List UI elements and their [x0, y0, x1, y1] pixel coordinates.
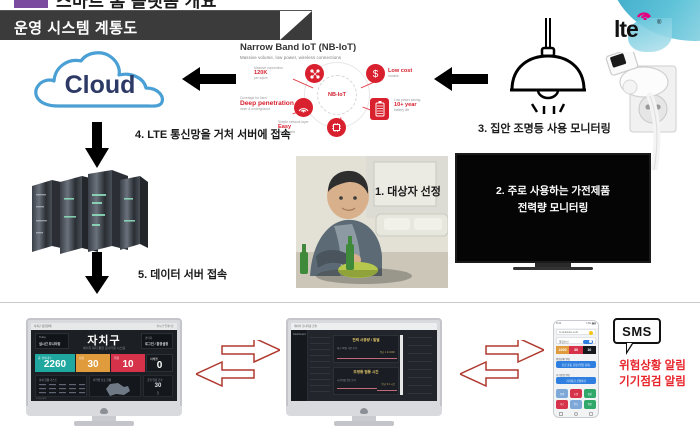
- browser-tab-label: 자치구 통합관제: [34, 324, 51, 328]
- lte-logo: lte ®: [614, 4, 668, 46]
- nbiot-caption-battery: Low power saving 10+ year battery life: [394, 98, 420, 112]
- nbiot-caption-connections: Massive connection 120K per sqkm: [254, 66, 283, 80]
- kpi-card-inspection[interactable]: 점검 30: [76, 354, 110, 372]
- chart-2-title: 조명등 점등 시간: [334, 370, 398, 375]
- phone-kpi-row: 2260 30 10: [556, 346, 596, 354]
- kpi-card-total[interactable]: 총 설치대수 2260: [35, 354, 75, 372]
- region-map-icon: [102, 381, 132, 397]
- lte-wordmark: lte: [614, 18, 638, 41]
- phone-kpi-total[interactable]: 2260: [556, 346, 569, 354]
- section-divider: [0, 302, 700, 303]
- dashboard-1-footer: Copyright: [36, 397, 46, 400]
- nbiot-caption-tiny2: per sqkm: [254, 76, 283, 80]
- nbiot-caption-tiny2: module: [388, 74, 412, 78]
- phone-url-text: m.smartcare.co.kr: [559, 331, 578, 334]
- alert-line-1: 위험상황 알림: [605, 358, 700, 374]
- toggle-switch[interactable]: [583, 340, 593, 345]
- dashboard-1-subtitle: 에너지 복지 통합 모니터링 시스템: [31, 346, 177, 350]
- chart-1-subtitle: 최근 30일 사용 추이: [337, 346, 357, 350]
- arrow-left-to-cloud: [182, 66, 236, 92]
- phone-kpi-pending[interactable]: 10: [583, 346, 596, 354]
- nbiot-caption-tiny2: inner & underground: [240, 107, 294, 111]
- phone-status-bar: 9:41 LTE ▮▮▮: [554, 321, 598, 328]
- step-label-1: 1. 대상자 선정: [375, 183, 441, 199]
- nav-recents-icon[interactable]: [589, 412, 593, 416]
- cloud-label: Cloud: [24, 50, 176, 112]
- phone-url-badge-icon: [589, 331, 593, 335]
- dashboard-2-sidebar[interactable]: Dashboard: [291, 330, 308, 401]
- apple-logo-icon: [357, 407, 371, 415]
- phone-status-grid: 전력 조명 확인 가스 온도 확인: [556, 389, 596, 409]
- monitor-1-foot: [74, 421, 134, 426]
- monitor-2-screen[interactable]: 데이터 모니터링 콘솔 Dashboard: [291, 323, 437, 401]
- nbiot-node-lowcost: $: [366, 64, 385, 83]
- chart-power-usage[interactable]: 전력 사용량 / 일별 최근 30일 사용 추이 평균 1.24 kWh: [333, 335, 399, 363]
- alert-text-block: 위험상황 알림 기기점검 알림: [605, 358, 700, 390]
- tv-graphic: 2. 주로 사용하는 가전제품 전력량 모니터링: [455, 153, 651, 270]
- panel-alert-unit: 건: [144, 391, 172, 395]
- panel-alert-count[interactable]: 금일 알림 건수 30 건: [143, 375, 173, 397]
- panel-title: 설치 현황 리스트: [39, 378, 57, 382]
- smartphone-app[interactable]: 9:41 LTE ▮▮▮ m.smartcare.co.kr 알림수신 2260…: [553, 320, 599, 418]
- nav-home-icon[interactable]: [574, 412, 578, 416]
- alert-line-2: 기기점검 알림: [605, 374, 700, 390]
- elderly-man-illustration: [296, 156, 448, 288]
- nbiot-node-penetration: [294, 98, 313, 117]
- chart-lighting-time[interactable]: 조명등 점등 시간 시간대별 점등 분석 평균 5.2 시간: [333, 367, 399, 395]
- browser-tab-label-2: 데이터 모니터링 콘솔: [294, 324, 317, 328]
- dollar-icon: $: [370, 68, 381, 79]
- nbiot-node-easy: [327, 118, 346, 137]
- page-title: 운영 시스템 계통도: [14, 17, 138, 38]
- phone-alert-card-inspection[interactable]: 기기점검 알림 기기점검 신청하기: [556, 373, 596, 386]
- apple-logo-icon: [97, 407, 111, 415]
- ceiling-lamp-graphic: [492, 18, 602, 116]
- kpi-value: 30: [76, 359, 110, 370]
- grid-cell[interactable]: 전력: [556, 389, 568, 398]
- phone-nav-bar: [554, 412, 598, 416]
- chart-1-right-label: 평균 1.24 kWh: [380, 350, 395, 354]
- arrow-down-cloud-to-server: [84, 122, 110, 168]
- lte-trademark: ®: [657, 20, 661, 26]
- grid-cell[interactable]: 가스: [556, 400, 568, 409]
- panel-title: 금일 알림 건수: [147, 378, 163, 382]
- server-rack-graphic: [30, 168, 148, 256]
- slide-root: 스마트 홈 플랫폼 개요 운영 시스템 계통도 lte ® Cloud Narr…: [0, 0, 700, 440]
- panel-install-list[interactable]: 설치 현황 리스트: [35, 375, 87, 397]
- chart-2-right-label: 평균 5.2 시간: [382, 382, 395, 386]
- tv-text-block: 2. 주로 사용하는 가전제품 전력량 모니터링: [455, 183, 651, 217]
- kpi-card-danger[interactable]: 위험 10: [111, 354, 145, 372]
- purple-accent-block: [14, 0, 48, 8]
- grid-cell[interactable]: 확인: [584, 389, 596, 398]
- kpi-value: 2260: [35, 359, 75, 370]
- monitor-dashboard-1: 자치구 통합관제 실시간 업데이트 Today 실시간 모니터링 관리자 로그인…: [26, 318, 182, 426]
- nbiot-caption-penetration: Coverage for hard Deep penetration inner…: [240, 96, 294, 111]
- panel-region-map[interactable]: 지역별 분포 현황: [89, 375, 141, 397]
- nbiot-title: Narrow Band IoT (NB-IoT): [240, 42, 356, 53]
- nav-back-icon[interactable]: [559, 412, 563, 416]
- server-rack-icon: [30, 168, 148, 256]
- scrollbar-track[interactable]: [400, 335, 403, 395]
- target-person-photo: [296, 156, 448, 288]
- exchange-arrows-right: [460, 340, 544, 396]
- sidebar-label: Dashboard: [293, 333, 306, 336]
- browser-chrome-bar-2: 데이터 모니터링 콘솔: [291, 323, 437, 330]
- browser-chrome-bar: 자치구 통합관제 실시간 업데이트: [31, 323, 177, 330]
- battery-icon: [375, 101, 385, 117]
- nbiot-node-devices: [305, 64, 324, 83]
- kpi-value: 10: [111, 359, 145, 370]
- nbiot-subtitle: Massive volume, low power, wireless conn…: [240, 55, 341, 60]
- chart-2-subtitle: 시간대별 점등 분석: [337, 378, 356, 382]
- monitor-dashboard-2: 데이터 모니터링 콘솔 Dashboard: [286, 318, 442, 426]
- phone-notification-toggle-row[interactable]: 알림수신: [556, 337, 596, 344]
- grid-cell[interactable]: 조명: [570, 389, 582, 398]
- step-label-4: 4. LTE 통신망을 거처 서버에 접속: [135, 126, 291, 142]
- sms-bubble: SMS: [613, 318, 661, 344]
- cut-off-title-strip: 스마트 홈 플랫폼 개요: [0, 0, 700, 11]
- devices-icon: [309, 68, 321, 80]
- signal-icon: [298, 102, 309, 113]
- monitor-2-foot: [334, 421, 394, 426]
- exchange-arrows-left: [196, 340, 280, 396]
- card-action-button[interactable]: 기기점검 신청하기: [556, 377, 596, 384]
- arrow-left-to-nbiot: [434, 66, 488, 92]
- nbiot-caption-lowcost: Low cost module: [388, 68, 412, 78]
- step-label-2-line2: 전력량 모니터링: [455, 200, 651, 217]
- kpi-card-unresolved[interactable]: 미해결 0: [146, 354, 173, 372]
- browser-footer-label: 실시간 업데이트: [157, 324, 174, 328]
- grid-cell[interactable]: 확인: [584, 400, 596, 409]
- nbiot-node-battery: [370, 98, 389, 120]
- kpi-value: 0: [147, 360, 172, 371]
- status-signal: LTE ▮▮▮: [586, 322, 596, 325]
- nbiot-caption-tiny2: battery life: [394, 108, 420, 112]
- tv-stand-base: [513, 267, 593, 270]
- pendant-lamp-icon: [492, 18, 602, 116]
- panel-alert-value: 30: [144, 383, 172, 389]
- arrow-down-server-to-data: [84, 252, 110, 294]
- sms-label: SMS: [622, 324, 652, 339]
- chip-icon: [331, 122, 342, 133]
- nbiot-center-label: NB-IoT: [317, 75, 357, 115]
- step-label-5: 5. 데이터 서버 접속: [138, 266, 227, 282]
- step-label-2-line1: 2. 주로 사용하는 가전제품: [455, 183, 651, 200]
- phone-alert-card-danger[interactable]: 위험상황 알림 긴급 출동 요청 (위험 감지): [556, 357, 596, 370]
- card-action-button[interactable]: 긴급 출동 요청 (위험 감지): [556, 361, 596, 368]
- status-time: 9:41: [556, 322, 561, 325]
- step-label-3: 3. 집안 조명등 사용 모니터링: [478, 120, 611, 136]
- monitor-1-screen[interactable]: 자치구 통합관제 실시간 업데이트 Today 실시간 모니터링 관리자 로그인…: [31, 323, 177, 401]
- chart-1-title: 전력 사용량 / 일별: [334, 338, 398, 343]
- phone-url-bar[interactable]: m.smartcare.co.kr: [556, 329, 596, 335]
- cloud-graphic: Cloud: [24, 50, 176, 112]
- svg-text:$: $: [373, 69, 379, 79]
- mini-table-icon: [36, 383, 88, 397]
- grid-cell[interactable]: 온도: [570, 400, 582, 409]
- nbiot-caption-main: Deep penetration: [240, 100, 294, 107]
- phone-kpi-danger[interactable]: 30: [569, 346, 582, 354]
- toggle-label: 알림수신: [559, 340, 569, 344]
